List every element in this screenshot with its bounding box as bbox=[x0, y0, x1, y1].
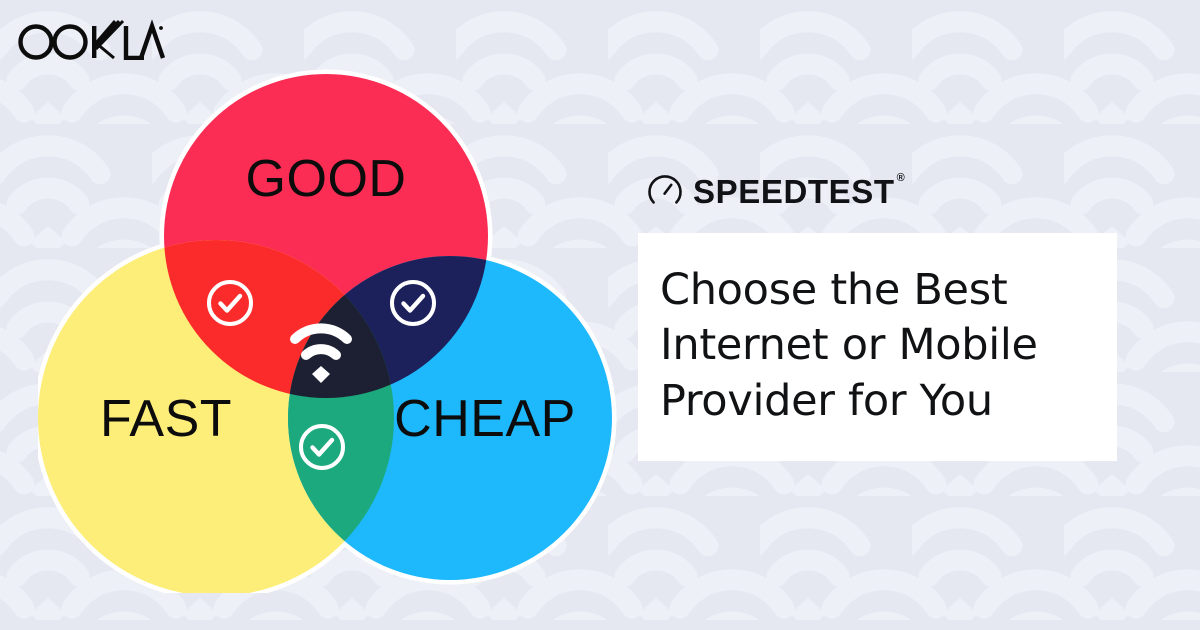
speedtest-logo: SPEEDTEST® bbox=[648, 168, 1128, 214]
right-column: SPEEDTEST® Choose the Best Internet or M… bbox=[638, 168, 1128, 461]
venn-label-good: GOOD bbox=[246, 150, 407, 208]
venn-diagram: GOOD FAST CHEAP bbox=[38, 48, 618, 593]
headline-card: Choose the Best Internet or Mobile Provi… bbox=[638, 233, 1117, 461]
speedtest-wordmark-text: SPEEDTEST bbox=[693, 173, 895, 210]
speedtest-wordmark: SPEEDTEST® bbox=[693, 175, 905, 208]
registered-mark: ® bbox=[897, 172, 905, 184]
venn-label-fast: FAST bbox=[100, 390, 232, 448]
venn-label-cheap: CHEAP bbox=[394, 390, 576, 448]
promo-graphic: GOOD FAST CHEAP bbox=[0, 0, 1200, 630]
page-title: Choose the Best Internet or Mobile Provi… bbox=[660, 263, 1087, 429]
speedometer-icon bbox=[648, 174, 682, 208]
ookla-logo bbox=[14, 16, 166, 60]
